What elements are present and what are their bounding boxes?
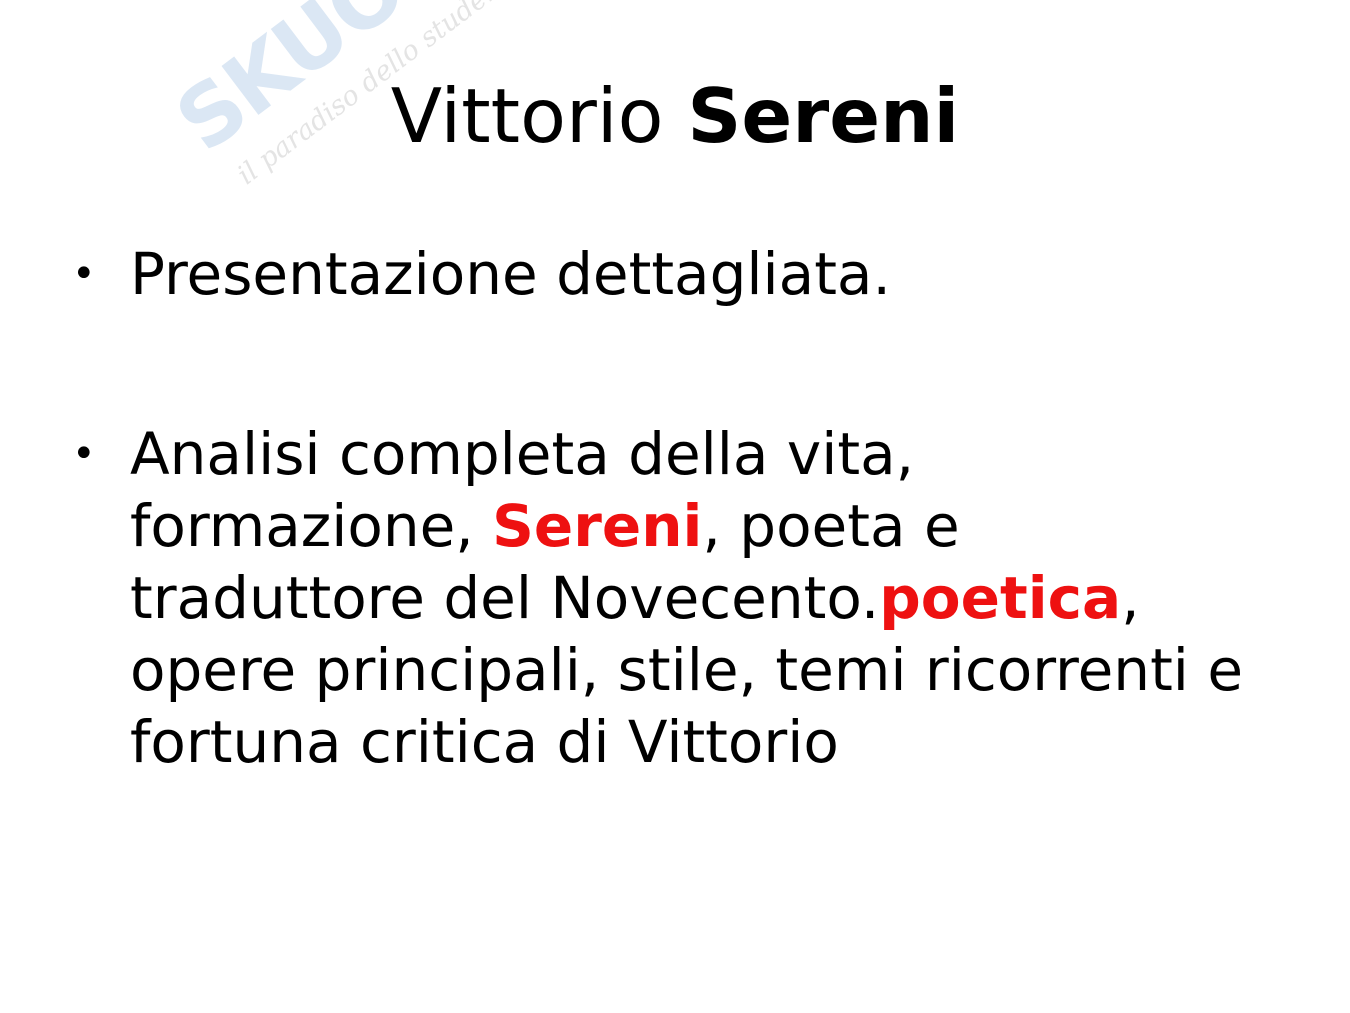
bullet-item-presentazione: • Presentazione dettagliata. bbox=[72, 238, 1272, 310]
bullet-item-analisi: • Analisi completa della vita, formazion… bbox=[72, 418, 1272, 778]
slide-title: Vittorio Sereni bbox=[0, 76, 1350, 157]
slide-body: • Presentazione dettagliata. • Analisi c… bbox=[72, 238, 1272, 778]
slide-title-accent: Sereni bbox=[687, 72, 959, 160]
presentation-slide: SKUOLA.net il paradiso dello studente Vi… bbox=[0, 0, 1350, 1013]
bullet-text-presentazione: Presentazione dettagliata. bbox=[130, 238, 1255, 310]
bullet-segment-accent-sereni: Sereni bbox=[492, 492, 702, 560]
bullet-marker-icon: • bbox=[72, 418, 130, 490]
bullet-text-analisi: Analisi completa della vita, formazione,… bbox=[130, 418, 1255, 778]
bullet-spacer bbox=[72, 310, 1272, 418]
bullet-segment-accent-poetica: poetica bbox=[879, 564, 1121, 632]
slide-title-plain: Vittorio bbox=[391, 72, 688, 160]
bullet-marker-icon: • bbox=[72, 238, 130, 310]
bullet-segment: Presentazione dettagliata. bbox=[130, 240, 891, 308]
